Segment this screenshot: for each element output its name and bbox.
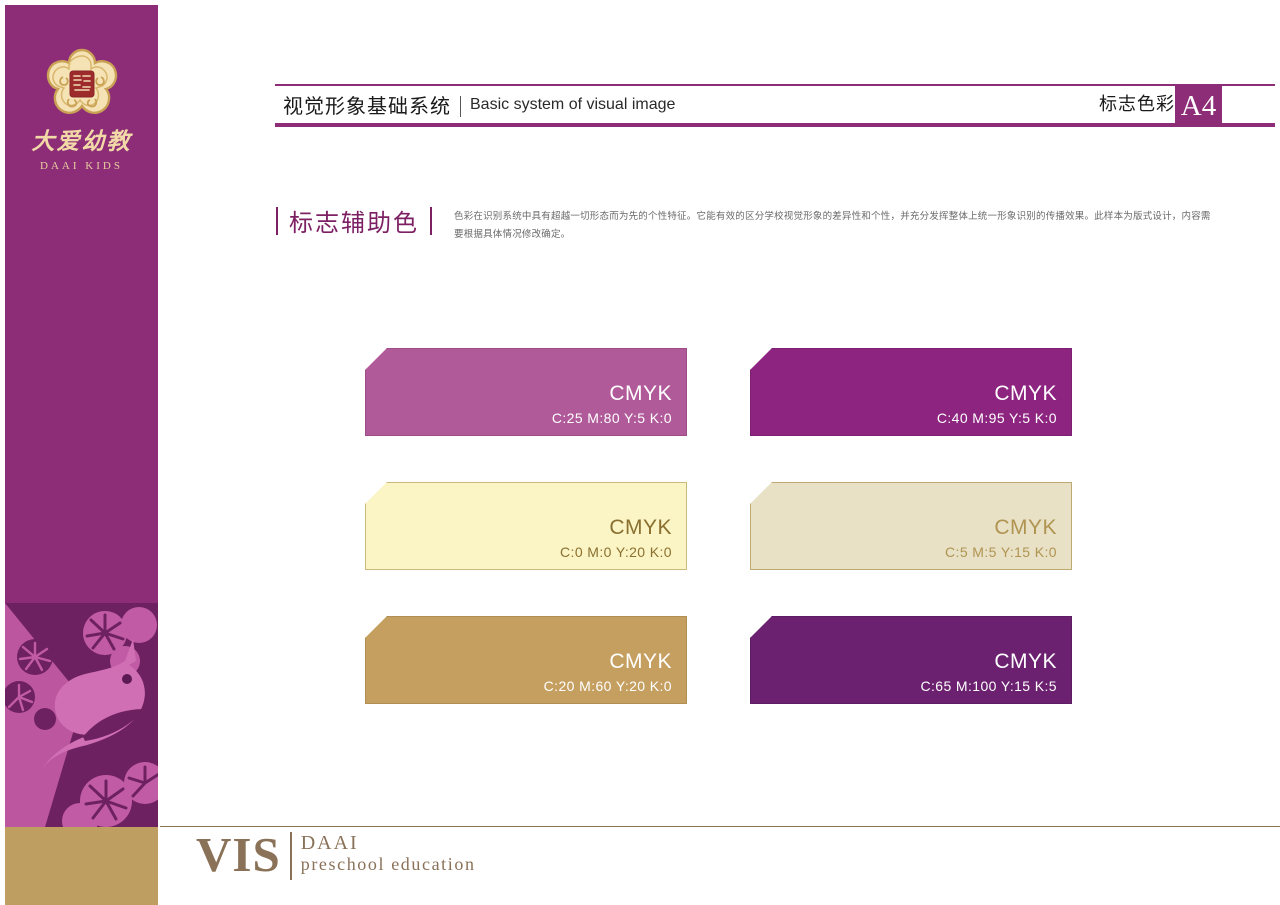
header-title-separator	[460, 96, 461, 117]
swatch-label-group: CMYK C:65 M:100 Y:15 K:5	[920, 650, 1057, 694]
header-rule-top	[275, 84, 1275, 86]
brand-logo-en: DAAI KIDS	[5, 160, 158, 172]
page-size-badge: A4	[1175, 86, 1222, 126]
left-brand-sidebar: 大爱幼教 DAAI KIDS	[5, 5, 158, 827]
swatch-label-group: CMYK C:20 M:60 Y:20 K:0	[544, 650, 672, 694]
swatch-model-label: CMYK	[552, 382, 672, 406]
swatch-row: CMYK C:20 M:60 Y:20 K:0 CMYK C:65 M:100 …	[365, 616, 1075, 704]
bird-floral-pattern-icon	[5, 569, 158, 827]
swatch-model-label: CMYK	[945, 516, 1057, 540]
header-title-en: Basic system of visual image	[470, 96, 675, 114]
section-title-group: 标志辅助色	[276, 203, 432, 238]
swatch-label-group: CMYK C:0 M:0 Y:20 K:0	[560, 516, 672, 560]
swatch-label-group: CMYK C:25 M:80 Y:5 K:0	[552, 382, 672, 426]
section-description: 色彩在识别系统中具有超越一切形态而为先的个性特征。它能有效的区分学校视觉形象的差…	[454, 208, 1214, 243]
swatch-cmyk-values: C:65 M:100 Y:15 K:5	[920, 678, 1057, 694]
daai-kids-flower-emblem-icon	[39, 47, 125, 125]
color-swatch[interactable]: CMYK C:65 M:100 Y:15 K:5	[750, 616, 1072, 704]
swatch-row: CMYK C:25 M:80 Y:5 K:0 CMYK C:40 M:95 Y:…	[365, 348, 1075, 436]
swatch-row: CMYK C:0 M:0 Y:20 K:0 CMYK C:5 M:5 Y:15 …	[365, 482, 1075, 570]
swatch-model-label: CMYK	[920, 650, 1057, 674]
color-swatch[interactable]: CMYK C:20 M:60 Y:20 K:0	[365, 616, 687, 704]
section-title: 标志辅助色	[278, 203, 430, 238]
swatch-cmyk-values: C:40 M:95 Y:5 K:0	[937, 410, 1057, 426]
bird-floral-decoration	[5, 569, 158, 827]
color-swatch[interactable]: CMYK C:5 M:5 Y:15 K:0	[750, 482, 1072, 570]
swatch-cmyk-values: C:20 M:60 Y:20 K:0	[544, 678, 672, 694]
header-rule-bottom	[275, 123, 1275, 127]
header-title-group: 视觉形象基础系统 Basic system of visual image	[283, 90, 675, 119]
swatch-cmyk-values: C:25 M:80 Y:5 K:0	[552, 410, 672, 426]
footer-text-group: DAAI preschool education	[301, 830, 476, 876]
swatch-model-label: CMYK	[560, 516, 672, 540]
swatch-label-group: CMYK C:5 M:5 Y:15 K:0	[945, 516, 1057, 560]
swatch-model-label: CMYK	[937, 382, 1057, 406]
swatch-cmyk-values: C:5 M:5 Y:15 K:0	[945, 544, 1057, 560]
section-header: 标志辅助色 色彩在识别系统中具有超越一切形态而为先的个性特征。它能有效的区分学校…	[276, 203, 1236, 243]
footer-vis-label: VIS	[196, 830, 281, 879]
footer-brand-name: DAAI	[301, 832, 476, 854]
swatch-cmyk-values: C:0 M:0 Y:20 K:0	[560, 544, 672, 560]
color-swatch[interactable]: CMYK C:0 M:0 Y:20 K:0	[365, 482, 687, 570]
color-swatch[interactable]: CMYK C:40 M:95 Y:5 K:0	[750, 348, 1072, 436]
brand-logo-cn: 大爱幼教	[5, 129, 158, 154]
brand-logo: 大爱幼教 DAAI KIDS	[5, 47, 158, 172]
color-swatch[interactable]: CMYK C:25 M:80 Y:5 K:0	[365, 348, 687, 436]
footer-divider	[160, 826, 1280, 827]
vis-manual-page: 大爱幼教 DAAI KIDS	[0, 0, 1280, 905]
footer-subtitle: preschool education	[301, 854, 476, 876]
page-header: 视觉形象基础系统 Basic system of visual image 标志…	[275, 84, 1275, 128]
swatch-label-group: CMYK C:40 M:95 Y:5 K:0	[937, 382, 1057, 426]
page-footer: VIS DAAI preschool education	[196, 830, 476, 880]
header-title-cn: 视觉形象基础系统	[283, 90, 451, 119]
color-swatch-grid: CMYK C:25 M:80 Y:5 K:0 CMYK C:40 M:95 Y:…	[365, 348, 1075, 704]
footer-gold-block	[5, 827, 158, 905]
swatch-model-label: CMYK	[544, 650, 672, 674]
section-title-bar-right	[430, 207, 432, 235]
footer-separator	[290, 832, 292, 880]
